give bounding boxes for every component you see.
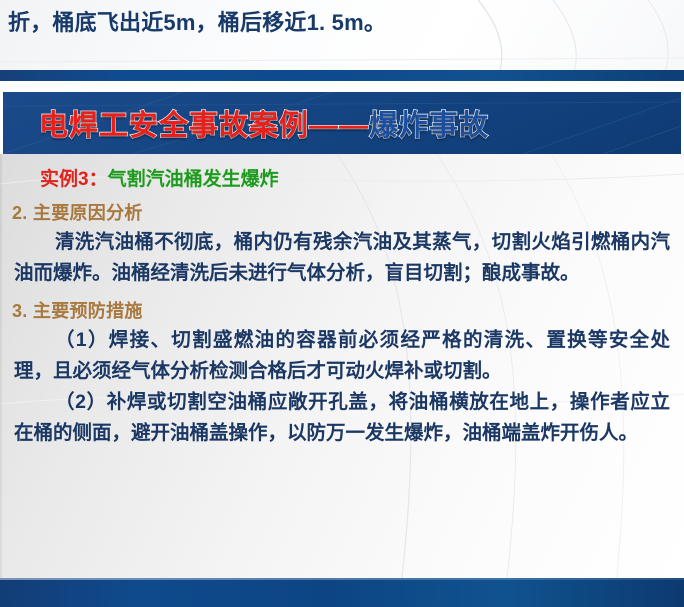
banner-title-blue: 爆炸事故 [369,110,489,142]
slide-body: 实例3：气割汽油桶发生爆炸 2. 主要原因分析 清洗汽油桶不彻底，桶内仍有残余汽… [0,154,684,578]
title-banner: 电焊工安全事故案例——爆炸事故 [3,92,681,154]
banner-title-red: 电焊工安全事故案例—— [39,110,369,142]
section-paragraph-prevention-1: （1）焊接、切割盛燃油的容器前必须经严格的清洗、置换等安全处理，且必须经气体分析… [14,325,670,387]
case-label: 实例3： [40,169,108,190]
top-divider-bar [0,70,684,81]
body-content: 实例3：气割汽油桶发生爆炸 2. 主要原因分析 清洗汽油桶不彻底，桶内仍有残余汽… [0,154,684,449]
section-heading-prevention: 3. 主要预防措施 [12,297,674,323]
section-paragraph-prevention-2: （2）补焊或切割空油桶应敞开孔盖，将油桶横放在地上，操作者应立在桶的侧面，避开油… [14,387,670,449]
banner-title: 电焊工安全事故案例——爆炸事故 [39,102,489,144]
section-heading-cause: 2. 主要原因分析 [12,199,674,225]
section-paragraph-cause: 清洗汽油桶不彻底，桶内仍有残余汽油及其蒸气，切割火焰引燃桶内汽油而爆炸。油桶经清… [14,227,670,289]
banner-gap [0,81,684,92]
bottom-divider-bar [0,578,684,607]
case-title-line: 实例3：气割汽油桶发生爆炸 [40,164,674,191]
previous-slide-text: 折，桶底飞出近5m，桶后移近1. 5m。 [8,5,676,37]
bottom-bar-highlight [0,578,684,580]
slide-root: 折，桶底飞出近5m，桶后移近1. 5m。 电焊工安全事故案例——爆炸事故 实例3… [0,0,684,607]
previous-slide-excerpt-pane: 折，桶底飞出近5m，桶后移近1. 5m。 [0,0,684,78]
case-name: 气割汽油桶发生爆炸 [108,169,279,190]
